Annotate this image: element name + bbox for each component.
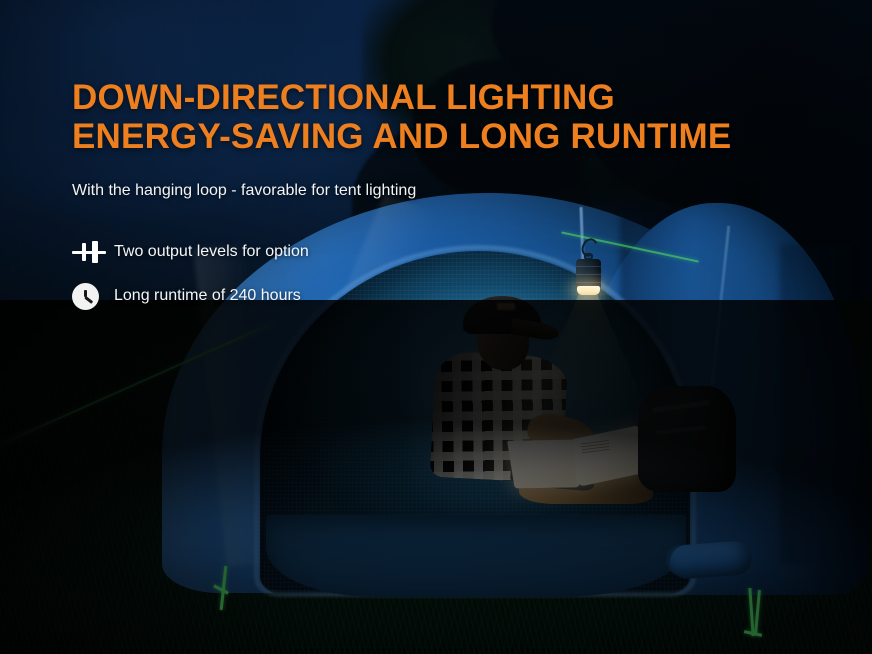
text-content: DOWN-DIRECTIONAL LIGHTING ENERGY-SAVING … — [72, 78, 772, 318]
clock-hand-minute — [85, 296, 94, 304]
levels-tick-low — [82, 243, 86, 261]
product-feature-poster: DOWN-DIRECTIONAL LIGHTING ENERGY-SAVING … — [0, 0, 872, 654]
headline-line-2: ENERGY-SAVING AND LONG RUNTIME — [72, 117, 772, 156]
output-levels-icon — [72, 241, 114, 263]
feature-label: Two output levels for option — [114, 242, 309, 262]
levels-track — [72, 251, 106, 254]
headline-line-1: DOWN-DIRECTIONAL LIGHTING — [72, 78, 772, 117]
feature-list: Two output levels for option Long runtim… — [72, 230, 772, 318]
ground-vignette — [0, 300, 872, 654]
clock-icon — [72, 283, 114, 310]
subtitle: With the hanging loop - favorable for te… — [72, 180, 772, 202]
feature-item-runtime: Long runtime of 240 hours — [72, 274, 772, 318]
feature-item-output-levels: Two output levels for option — [72, 230, 772, 274]
levels-tick-high — [92, 241, 98, 263]
feature-label: Long runtime of 240 hours — [114, 286, 301, 306]
page-title: DOWN-DIRECTIONAL LIGHTING ENERGY-SAVING … — [72, 78, 772, 156]
